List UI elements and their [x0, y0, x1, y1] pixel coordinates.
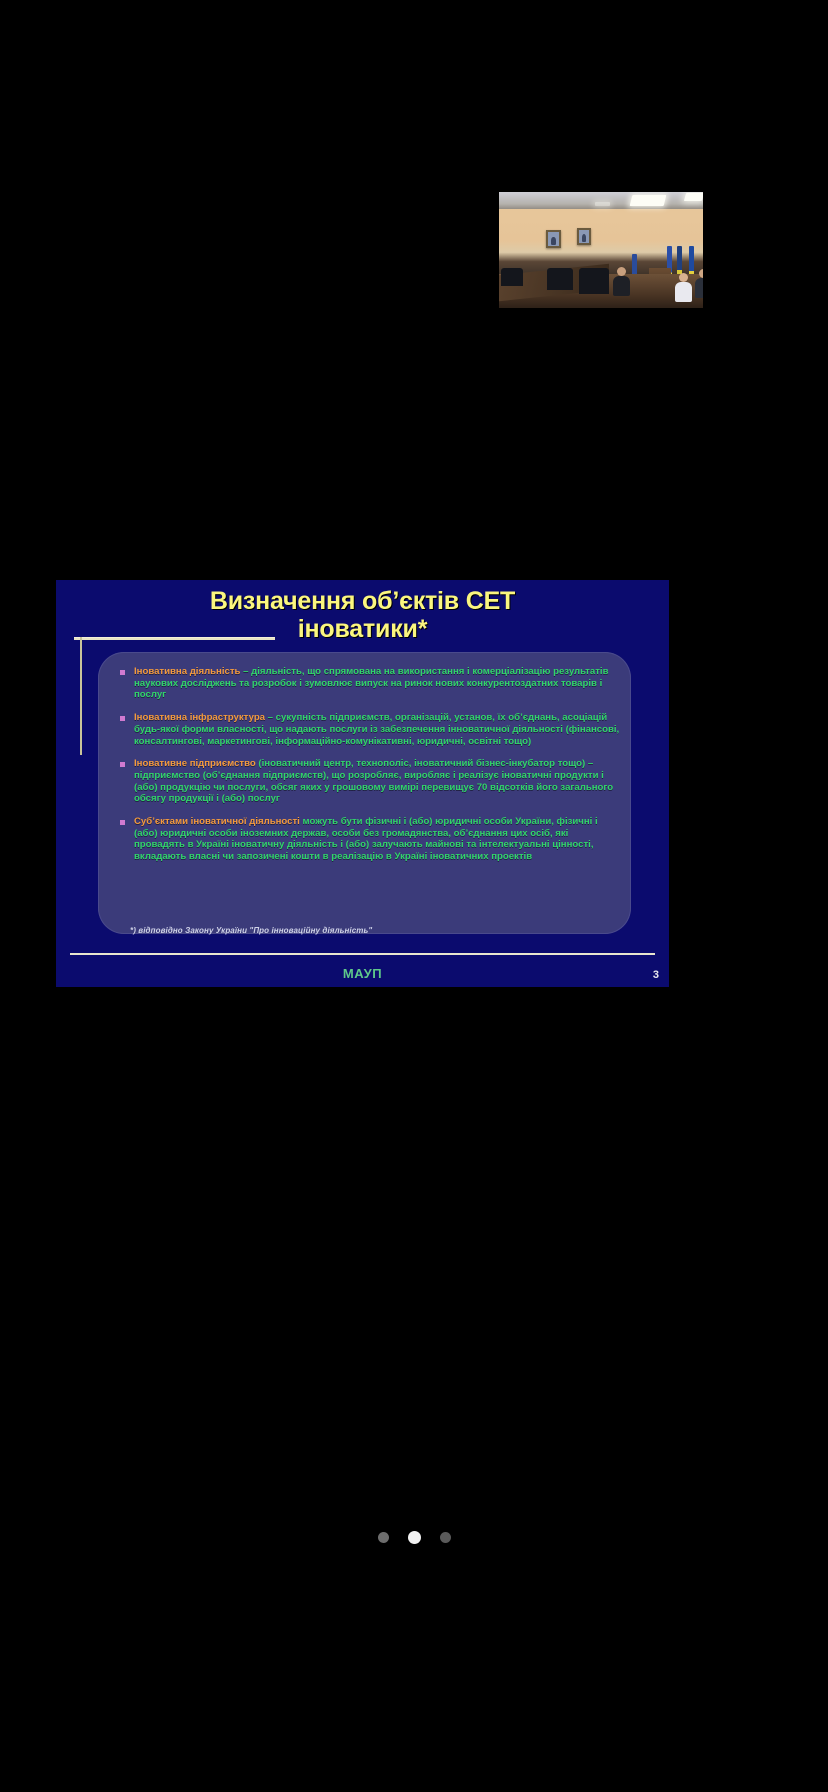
slide-title-divider [74, 637, 275, 640]
ceiling-light-icon [630, 195, 667, 206]
slide-bullet-4-lead: Суб’єктами іноватичної діяльності [134, 816, 300, 827]
chair [547, 268, 573, 290]
slide-bullet-3: Іновативне підприємство (іноватичний цен… [116, 758, 621, 805]
slide-title: Визначення об’єктів СЕТ іноватики* [56, 588, 669, 643]
video-ceiling [499, 192, 703, 209]
ceiling-light-icon [684, 193, 703, 201]
person [613, 267, 630, 296]
slide-page-number: 3 [653, 969, 659, 981]
ceiling-light-icon [595, 202, 610, 206]
slide-bullet-2: Іновативна інфраструктура – сукупність п… [116, 712, 621, 747]
presentation-slide[interactable]: Визначення об’єктів СЕТ іноватики* Інова… [56, 580, 669, 987]
page-dot-2[interactable] [408, 1531, 421, 1544]
slide-bullet-3-lead: Іновативне підприємство [134, 758, 256, 769]
slide-bullet-1: Іновативна діяльність – діяльність, що с… [116, 666, 621, 701]
slide-bullet-4: Суб’єктами іноватичної діяльності можуть… [116, 816, 621, 863]
person [695, 269, 703, 298]
slide-footer-divider [70, 953, 655, 955]
slide-title-line-1: Визначення об’єктів СЕТ [56, 588, 669, 616]
slide-footnote: *) відповідно Закону України "Про іннова… [130, 926, 372, 935]
wall-portrait [577, 228, 591, 245]
slide-body-panel: Іновативна діяльність – діяльність, що с… [98, 652, 631, 934]
presenter-video-thumbnail[interactable] [499, 192, 703, 308]
app-screen: Визначення об’єктів СЕТ іноватики* Інова… [0, 0, 828, 1792]
wall-portrait [546, 230, 561, 248]
slide-title-vertical-rule [80, 637, 82, 755]
slide-footer-brand: МАУП [56, 966, 669, 981]
page-dot-3[interactable] [440, 1532, 451, 1543]
page-indicator[interactable] [0, 1531, 828, 1544]
slide-bullet-1-lead: Іновативна діяльність [134, 666, 240, 677]
person [675, 273, 692, 302]
slide-bullet-2-lead: Іновативна інфраструктура [134, 712, 265, 723]
chair [579, 268, 609, 294]
chair [501, 268, 523, 286]
page-dot-1[interactable] [378, 1532, 389, 1543]
